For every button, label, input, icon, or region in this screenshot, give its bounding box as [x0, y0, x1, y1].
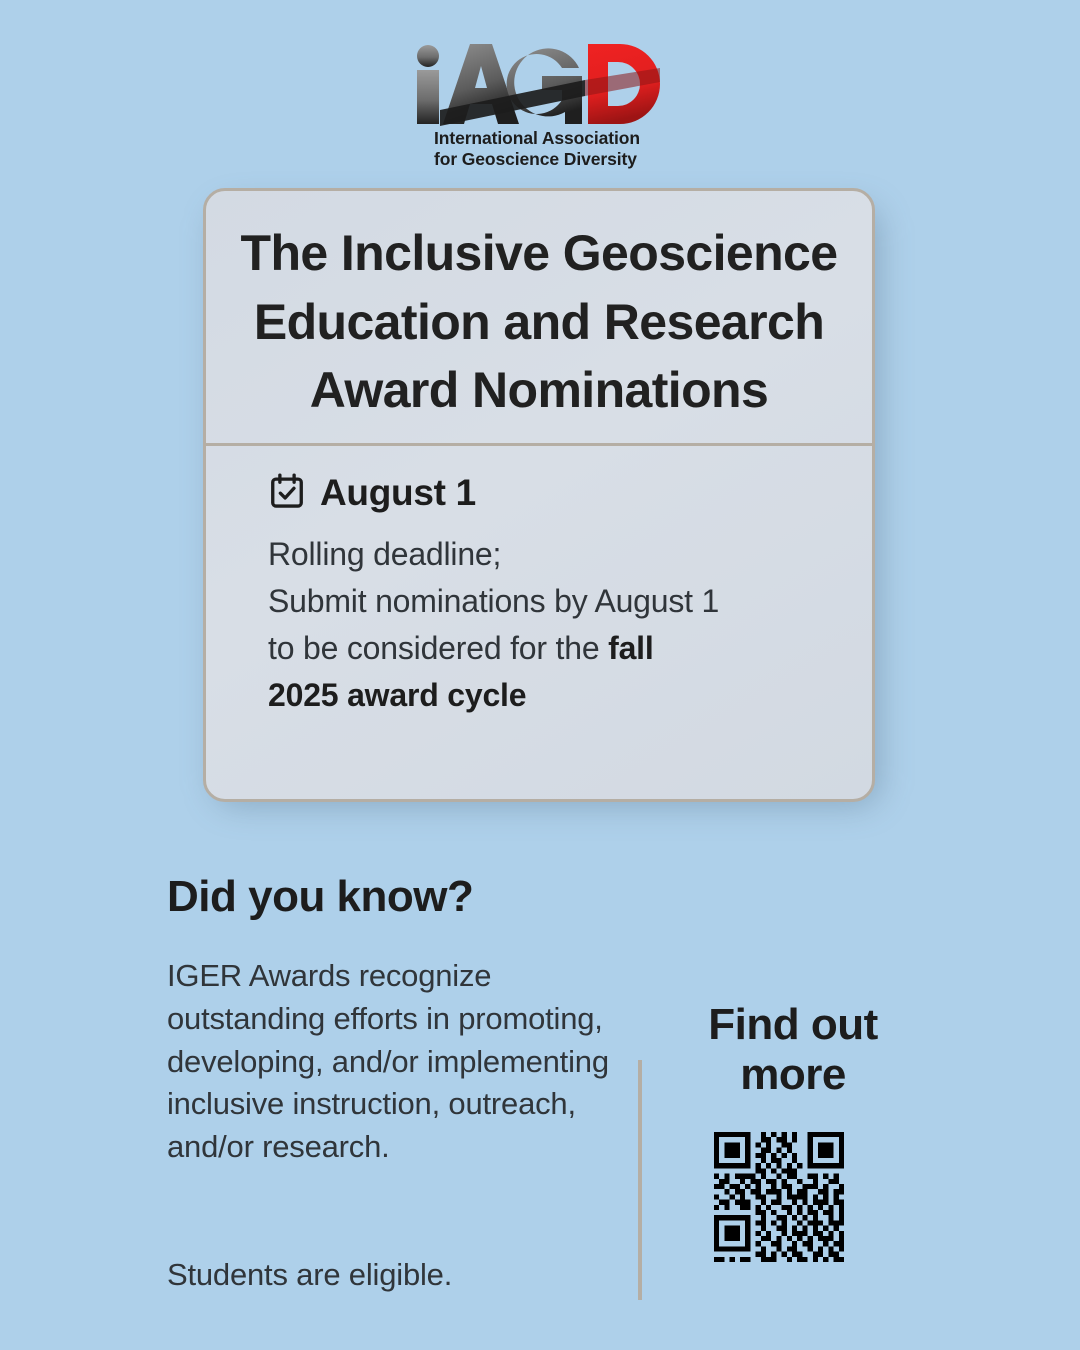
iagd-logo-mark	[410, 38, 670, 126]
logo-block: International Association for Geoscience…	[0, 38, 1080, 169]
note-line-1: Rolling deadline;	[268, 536, 501, 572]
students-eligible-note: Students are eligible.	[167, 1254, 627, 1297]
logo-tagline: International Association for Geoscience…	[434, 128, 694, 169]
card-body: August 1 Rolling deadline; Submit nomina…	[206, 446, 872, 719]
logo-tagline-line-1: International Association	[434, 128, 694, 149]
did-you-know-paragraph: IGER Awards recognize outstanding effort…	[167, 955, 627, 1169]
award-card: The Inclusive Geoscience Education and R…	[203, 188, 875, 802]
deadline-note: Rolling deadline; Submit nominations by …	[268, 531, 838, 719]
note-emphasis-cycle: 2025 award cycle	[268, 677, 526, 713]
lower-section: Did you know? IGER Awards recognize outs…	[0, 872, 1080, 1350]
deadline-row: August 1	[268, 472, 838, 515]
note-emphasis-fall: fall	[608, 630, 653, 666]
card-title: The Inclusive Geoscience Education and R…	[206, 191, 872, 425]
logo-tagline-line-2: for Geoscience Diversity	[434, 149, 694, 170]
qr-code-icon[interactable]	[714, 1132, 844, 1262]
did-you-know-heading: Did you know?	[167, 872, 473, 922]
deadline-date: August 1	[320, 472, 476, 514]
note-line-3: to be considered for the	[268, 630, 608, 666]
vertical-divider	[638, 1060, 642, 1300]
note-line-2: Submit nominations by August 1	[268, 583, 719, 619]
calendar-check-icon	[268, 472, 306, 515]
find-out-more-heading: Find out more	[668, 1000, 918, 1100]
